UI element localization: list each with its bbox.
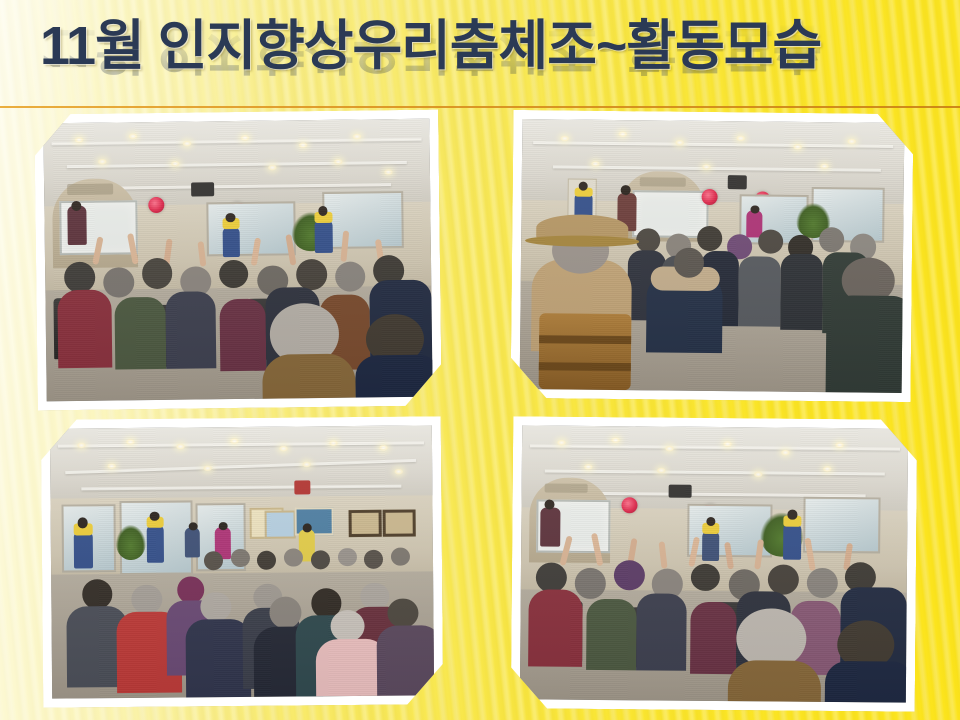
photo-bottom-right-image — [520, 425, 908, 702]
page-title: 11월 인지향상우리춤체조~활동모습 — [40, 18, 821, 75]
slide-canvas: 11월 인지향상우리춤체조~활동모습 11월 인지향상우리춤체조~활동모습 — [0, 0, 960, 720]
photo-top-left-image — [43, 119, 432, 402]
title-divider — [0, 106, 960, 108]
photo-bottom-left[interactable] — [41, 416, 443, 707]
photo-top-right-image — [520, 119, 905, 393]
photo-top-right[interactable] — [511, 110, 914, 402]
photo-bottom-right[interactable] — [511, 416, 918, 712]
photo-bottom-left-image — [50, 425, 434, 698]
title-area: 11월 인지향상우리춤체조~활동모습 11월 인지향상우리춤체조~활동모습 — [0, 0, 960, 108]
photo-top-left[interactable] — [34, 110, 442, 411]
